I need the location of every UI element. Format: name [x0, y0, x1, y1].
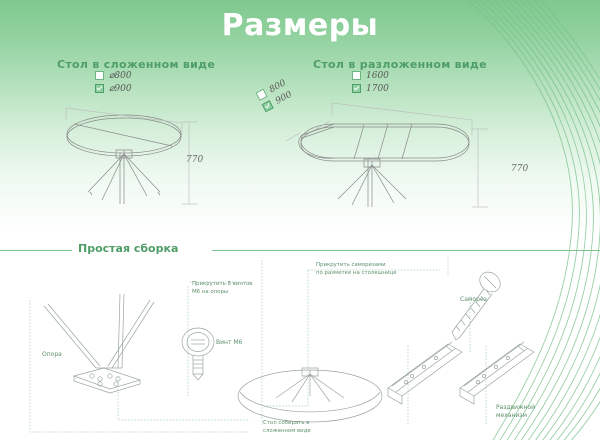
- folded-table-drawing: [52, 92, 207, 212]
- part-label-bolt: Винт М6: [216, 339, 242, 347]
- option-label: ⌀800: [109, 71, 132, 81]
- divider-line-right: [212, 250, 600, 251]
- annotation-assemble-folded: Стол собирать в сложенном виде: [263, 420, 311, 436]
- section-caption-folded: Стол в сложенном виде: [57, 58, 215, 71]
- assembly-section-title: Простая сборка: [78, 242, 178, 255]
- option-label: 1600: [366, 71, 389, 81]
- annotation-attach-screws: Прикрутить 8 винтов М6 на опоры: [192, 281, 252, 297]
- unfolded-height-dimension: 770: [511, 164, 528, 174]
- unfolded-table-drawing: [276, 95, 506, 215]
- checkbox-unchecked-icon[interactable]: [352, 71, 361, 80]
- annotation-attach-tabletop: Прикрутить саморезами по разметке на сто…: [316, 262, 397, 278]
- option-row[interactable]: 1600: [352, 70, 389, 81]
- checkbox-unchecked-icon[interactable]: [95, 71, 104, 80]
- divider-line-left: [0, 250, 72, 251]
- part-label-support: Опора: [42, 351, 62, 359]
- part-label-sliding-mechanism: Раздвижной механизм: [496, 404, 535, 421]
- folded-height-dimension: 770: [186, 155, 203, 165]
- option-row[interactable]: ⌀800: [95, 70, 132, 81]
- instruction-page: Размеры Стол в сложенном виде ⌀800 ⌀900: [0, 0, 600, 440]
- unfolded-length-options: 1600 1700: [352, 70, 389, 96]
- section-caption-unfolded: Стол в разложенном виде: [313, 58, 487, 71]
- option-label: 1700: [366, 84, 389, 94]
- option-row[interactable]: 1700: [352, 83, 389, 94]
- checkbox-checked-icon[interactable]: [352, 84, 361, 93]
- page-title: Размеры: [0, 8, 600, 43]
- part-label-self-tapping-screw: Саморез: [460, 296, 487, 304]
